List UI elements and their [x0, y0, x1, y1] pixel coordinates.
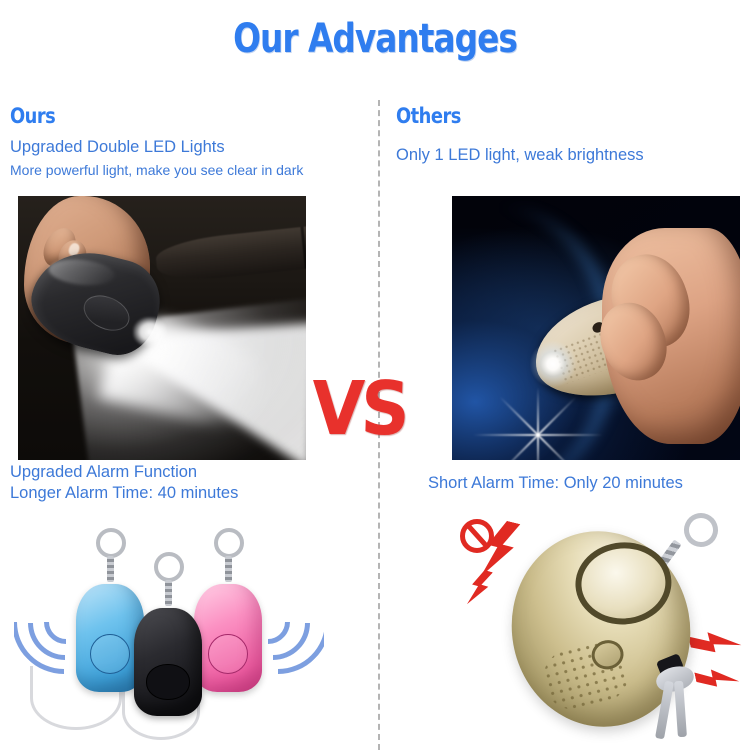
alarm-device-black [134, 608, 202, 716]
ours-alarm-title: Upgraded Alarm Function [10, 463, 197, 482]
keyring [154, 552, 184, 582]
ours-alarm-photo [14, 508, 324, 746]
ours-led-photo [18, 196, 306, 460]
others-alarm-title: Short Alarm Time: Only 20 minutes [428, 474, 683, 493]
column-heading-others: Others [396, 104, 461, 128]
alarm-device-pink [194, 584, 262, 692]
page-title: Our Advantages [68, 18, 683, 60]
device-button [90, 634, 130, 674]
device-dial [573, 539, 675, 628]
keyring [214, 528, 244, 558]
ours-led-title: Upgraded Double LED Lights [10, 138, 225, 157]
keychain-link [225, 556, 232, 582]
prohibition-icon [460, 519, 494, 553]
others-led-photo [452, 196, 740, 460]
lightning-bolt-icon [462, 567, 495, 610]
device-button [208, 634, 248, 674]
light-ray [537, 387, 539, 460]
ours-led-subtitle: More powerful light, make you see clear … [10, 162, 303, 178]
others-alarm-photo [446, 505, 746, 750]
vs-badge: VS [311, 372, 408, 446]
key [674, 681, 687, 737]
advantages-infographic: Our Advantages Ours Upgraded Double LED … [0, 0, 750, 750]
column-heading-ours: Ours [10, 104, 55, 128]
lightning-bolt-icon [687, 621, 743, 663]
keychain-link [165, 580, 172, 606]
others-led-title: Only 1 LED light, weak brightness [396, 146, 644, 165]
lightning-bolt-icon [694, 661, 741, 696]
device-highlight [48, 256, 116, 287]
device-button [146, 664, 190, 700]
keychain-link [107, 556, 114, 582]
ours-alarm-subtitle: Longer Alarm Time: 40 minutes [10, 484, 238, 503]
keyring [96, 528, 126, 558]
led-emitter [133, 317, 167, 347]
device-button [79, 289, 136, 338]
keyring [679, 508, 724, 553]
led-point-light [530, 341, 576, 387]
